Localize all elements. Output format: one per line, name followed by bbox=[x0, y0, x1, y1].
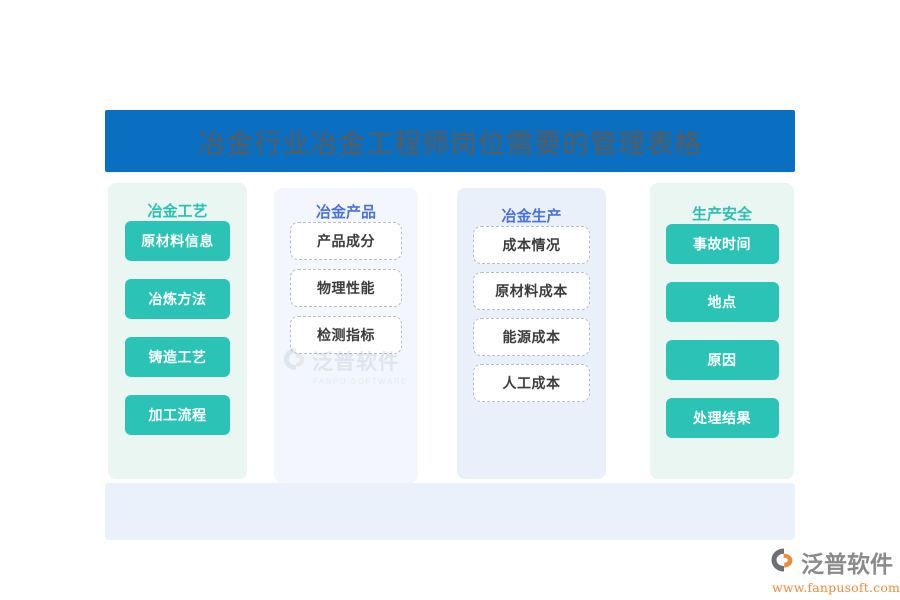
brand-url: www.fanpusoft.com bbox=[772, 580, 895, 595]
brand-name: 泛普软件 bbox=[801, 545, 893, 579]
item-pill[interactable]: 物理性能 bbox=[290, 269, 402, 307]
column-title: 冶金产品 bbox=[274, 201, 418, 222]
item-pill[interactable]: 加工流程 bbox=[125, 395, 230, 435]
category-column-metallurgy-product[interactable]: 冶金产品 产品成分 物理性能 检测指标 bbox=[274, 188, 418, 483]
column-title: 生产安全 bbox=[650, 203, 794, 224]
item-pill[interactable]: 原材料信息 bbox=[125, 221, 230, 261]
item-pill[interactable]: 人工成本 bbox=[473, 364, 590, 402]
item-pill[interactable]: 成本情况 bbox=[473, 226, 590, 264]
category-column-metallurgy-process[interactable]: 冶金工艺 原材料信息 冶炼方法 铸造工艺 加工流程 bbox=[108, 183, 247, 479]
item-pill[interactable]: 冶炼方法 bbox=[125, 279, 230, 319]
title-banner: 冶金行业冶金工程师岗位需要的管理表格 bbox=[105, 110, 795, 172]
item-pill[interactable]: 地点 bbox=[666, 282, 779, 322]
item-pill[interactable]: 产品成分 bbox=[290, 222, 402, 260]
item-pill[interactable]: 处理结果 bbox=[666, 398, 779, 438]
item-pill[interactable]: 能源成本 bbox=[473, 318, 590, 356]
item-pill[interactable]: 事故时间 bbox=[666, 224, 779, 264]
slide-canvas: 冶金行业冶金工程师岗位需要的管理表格 冶金工艺 原材料信息 冶炼方法 铸造工艺 … bbox=[0, 0, 900, 600]
column-title: 冶金生产 bbox=[457, 205, 606, 226]
page-title: 冶金行业冶金工程师岗位需要的管理表格 bbox=[198, 122, 702, 161]
category-column-production-safety[interactable]: 生产安全 事故时间 地点 原因 处理结果 bbox=[650, 183, 794, 479]
item-pill[interactable]: 原因 bbox=[666, 340, 779, 380]
brand-logo: 泛普软件 www.fanpusoft.com bbox=[770, 545, 895, 593]
item-pill[interactable]: 检测指标 bbox=[290, 316, 402, 354]
item-pill[interactable]: 铸造工艺 bbox=[125, 337, 230, 377]
column-title: 冶金工艺 bbox=[108, 200, 247, 221]
bottom-panel bbox=[105, 483, 795, 540]
category-column-metallurgy-production[interactable]: 冶金生产 成本情况 原材料成本 能源成本 人工成本 bbox=[457, 188, 606, 479]
item-pill[interactable]: 原材料成本 bbox=[473, 272, 590, 310]
fanpu-logo-icon bbox=[770, 547, 798, 578]
